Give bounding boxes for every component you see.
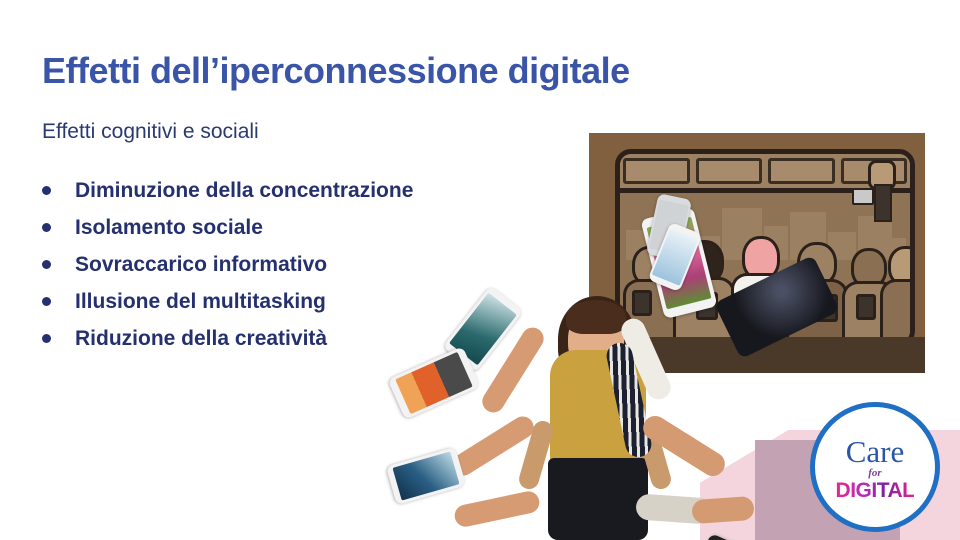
list-item: Riduzione della creatività xyxy=(42,320,413,357)
bullet-dot-icon xyxy=(42,334,51,343)
multitasking-collage-image xyxy=(420,270,840,540)
logo-word-care: Care xyxy=(846,436,905,467)
bullet-text: Sovraccarico informativo xyxy=(75,253,327,277)
logo-word-digital: DIGITAL xyxy=(836,480,915,501)
list-item: Diminuzione della concentrazione xyxy=(42,172,413,209)
collage-phone-screen xyxy=(396,352,473,414)
passenger xyxy=(882,248,915,342)
bullet-text: Illusione del multitasking xyxy=(75,290,326,314)
bullet-dot-icon xyxy=(42,297,51,306)
standing-passenger-hand xyxy=(850,160,896,220)
list-item: Sovraccarico informativo xyxy=(42,246,413,283)
bus-window-pane xyxy=(696,158,763,184)
passenger-body xyxy=(880,279,915,342)
collage-phone xyxy=(388,346,481,420)
page-subtitle: Effetti cognitivi e sociali xyxy=(42,120,259,144)
list-item: Isolamento sociale xyxy=(42,209,413,246)
bullet-dot-icon xyxy=(42,260,51,269)
collage-woman-hair-front xyxy=(566,300,626,334)
slide-canvas: Effetti dell’iperconnessione digitale Ef… xyxy=(0,0,960,540)
page-title: Effetti dell’iperconnessione digitale xyxy=(42,50,630,92)
bus-window-pane xyxy=(623,158,690,184)
collage-arm xyxy=(453,489,542,528)
list-item: Illusione del multitasking xyxy=(42,283,413,320)
collage-arm xyxy=(691,496,755,524)
bullet-dot-icon xyxy=(42,186,51,195)
care-for-digital-logo: Care for DIGITAL xyxy=(810,402,940,532)
collage-phone xyxy=(697,533,772,540)
collage-phone-screen xyxy=(393,451,459,500)
collage-tablet xyxy=(714,255,840,359)
collage-woman-skirt xyxy=(548,458,648,540)
bullet-dot-icon xyxy=(42,223,51,232)
collage-phone xyxy=(386,447,466,505)
bullet-text: Riduzione della creatività xyxy=(75,327,327,351)
bullet-list: Diminuzione della concentrazione Isolame… xyxy=(42,172,413,357)
bus-window-pane xyxy=(768,158,835,184)
bullet-text: Isolamento sociale xyxy=(75,216,263,240)
logo-word-for: for xyxy=(868,468,881,479)
passenger-phone-icon xyxy=(856,294,876,320)
bullet-text: Diminuzione della concentrazione xyxy=(75,179,413,203)
